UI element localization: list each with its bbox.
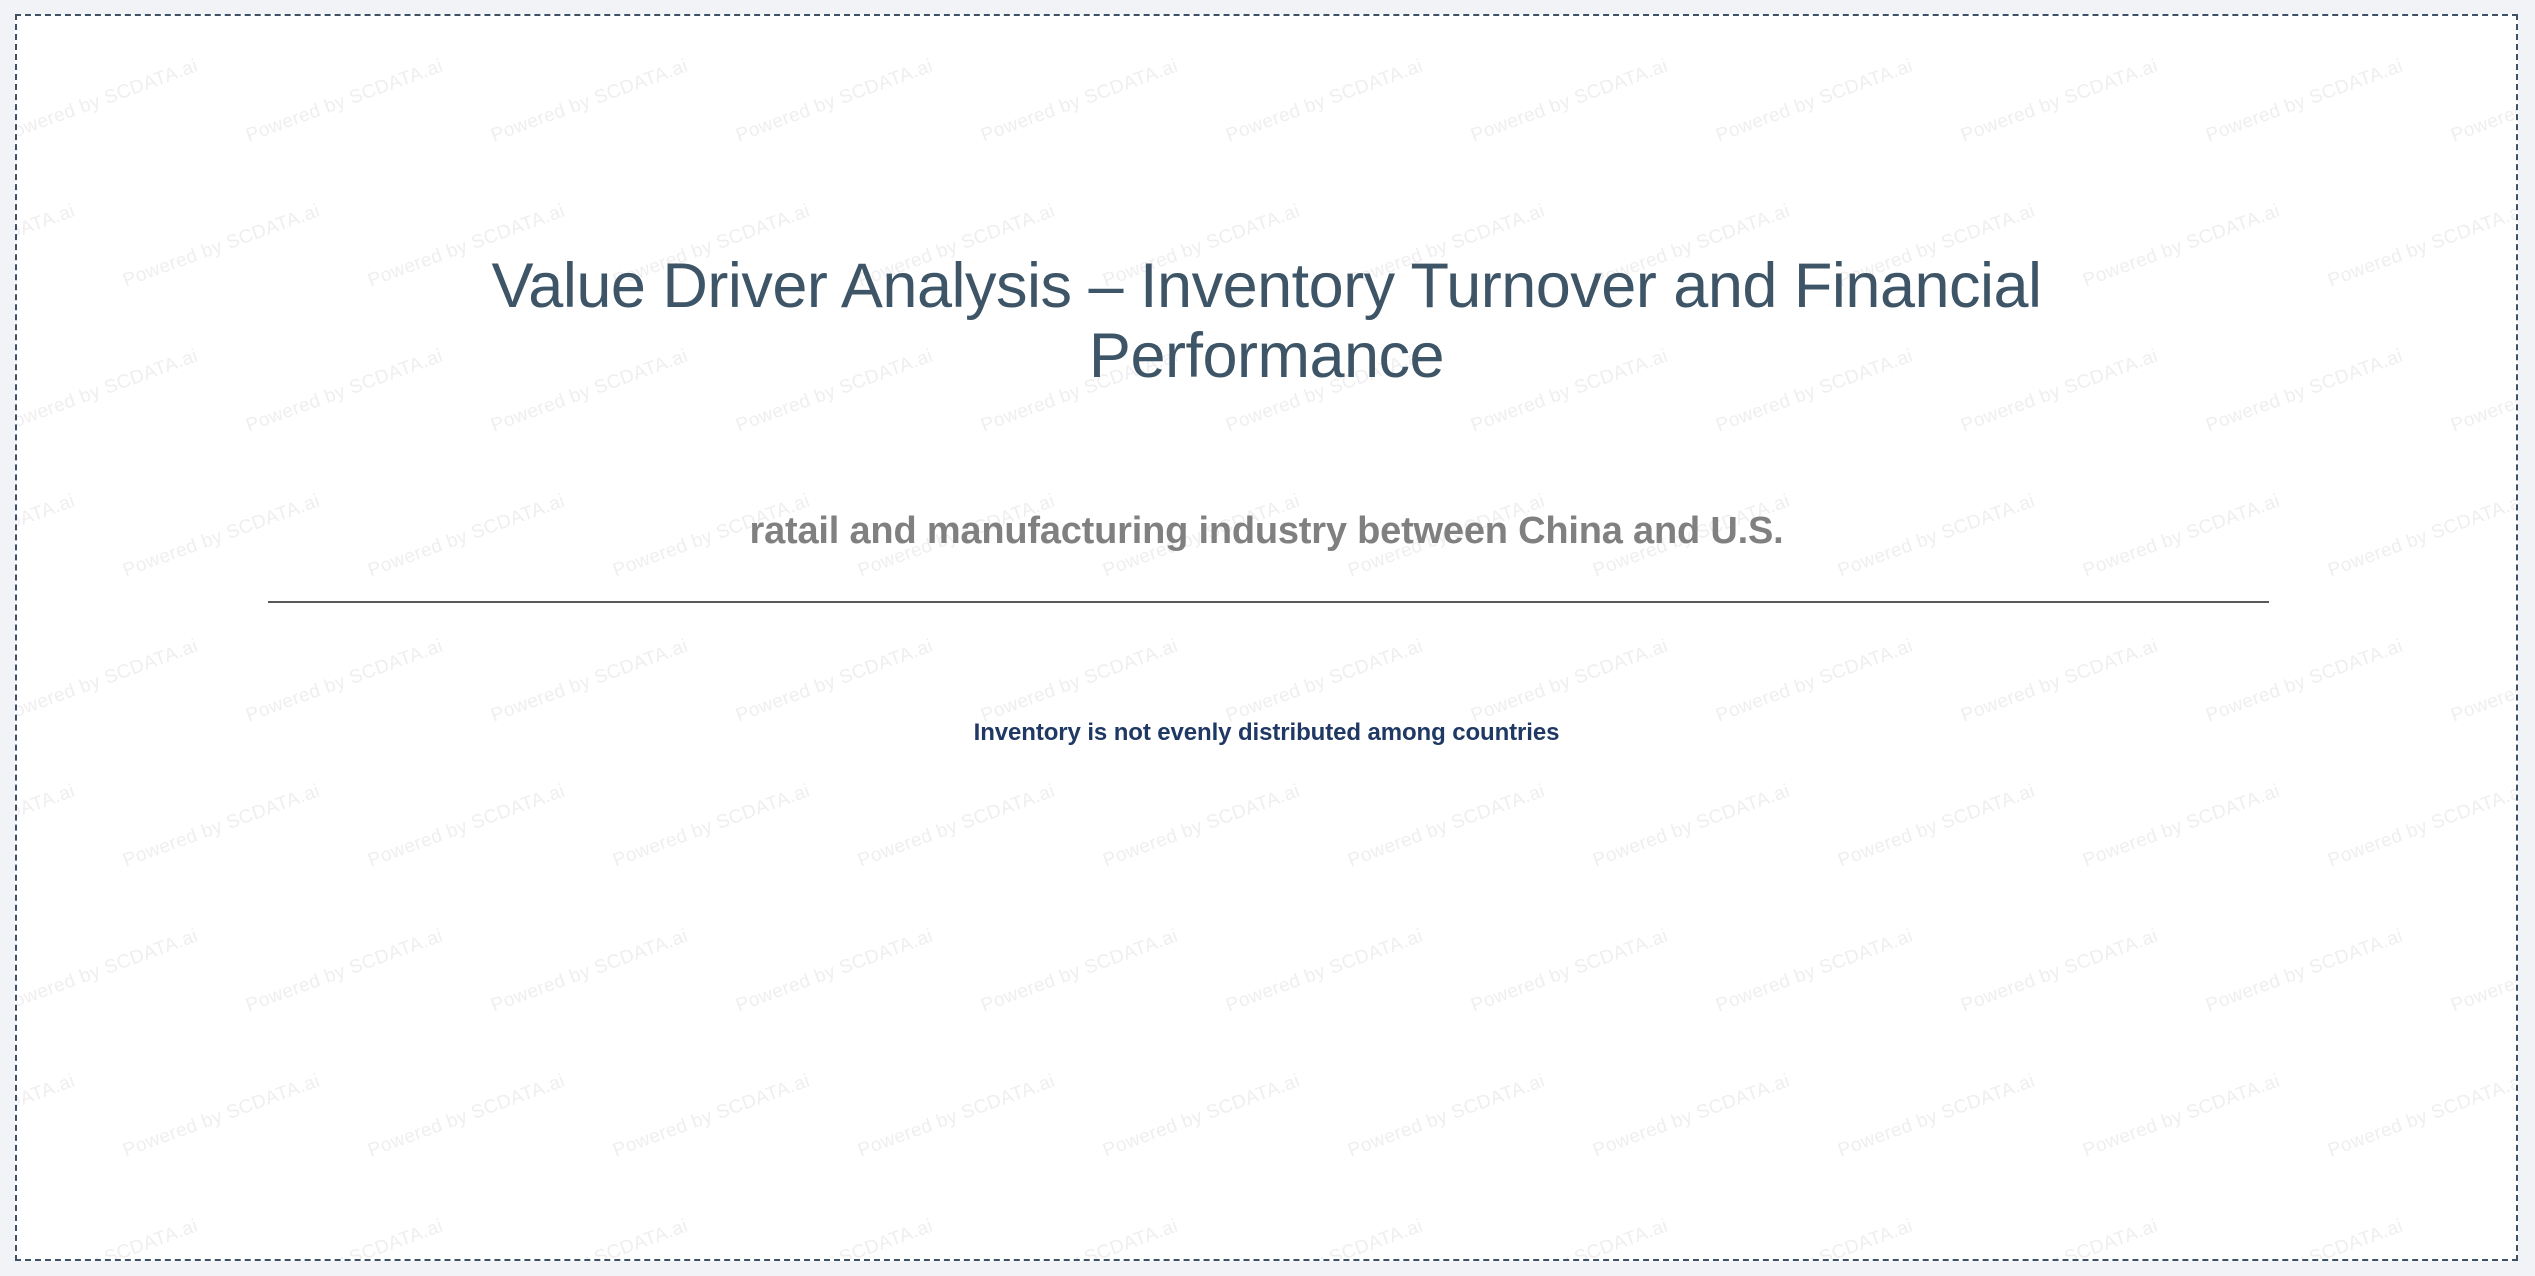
header-divider [268,601,2269,603]
slide-root: Powered by SCDATA.aiPowered by SCDATA.ai… [0,0,2535,1276]
content-placeholder-area[interactable] [268,786,2269,1236]
page-title: Value Driver Analysis – Inventory Turnov… [457,251,2077,391]
title-block: Value Driver Analysis – Inventory Turnov… [17,251,2516,391]
body-block: Inventory is not evenly distributed amon… [17,719,2516,747]
body-statement: Inventory is not evenly distributed amon… [17,719,2516,747]
slide-content: Value Driver Analysis – Inventory Turnov… [17,16,2516,1259]
subtitle-block: ratail and manufacturing industry betwee… [17,510,2516,553]
slide-canvas[interactable]: Powered by SCDATA.aiPowered by SCDATA.ai… [15,14,2518,1261]
page-subtitle: ratail and manufacturing industry betwee… [17,510,2516,553]
